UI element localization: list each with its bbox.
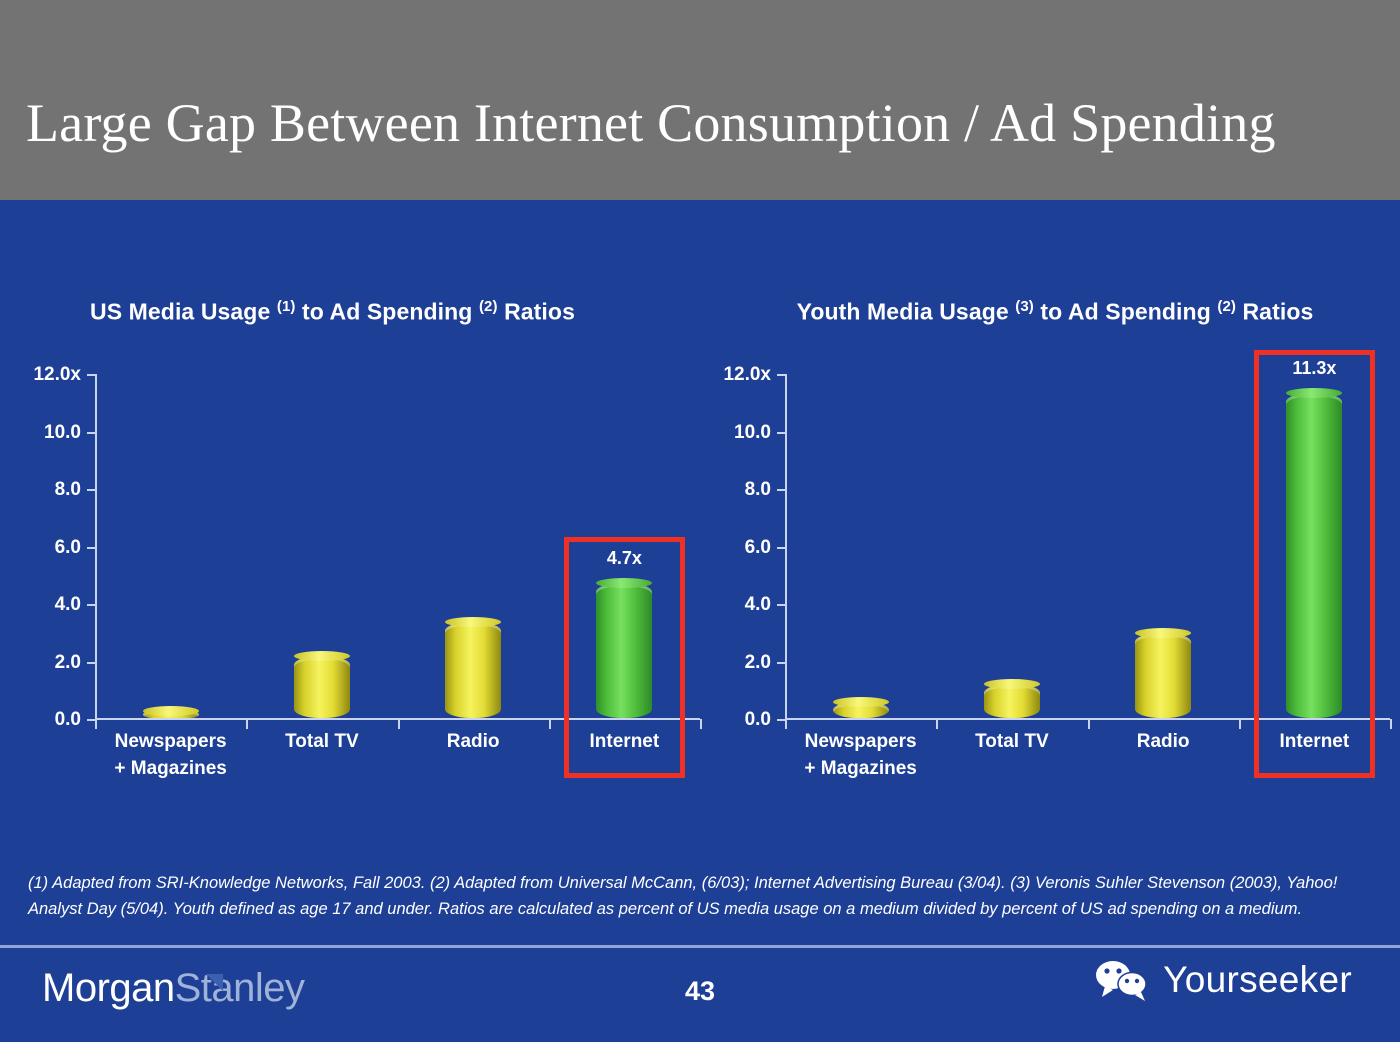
x-axis-category-label: Total TV [246, 728, 397, 755]
y-axis-tick [87, 432, 97, 434]
category-label-line1: Total TV [246, 728, 397, 755]
plot-area-right: 11.3x 0.02.04.06.08.010.012.0x [785, 375, 1390, 720]
category-label-line2: + Magazines [95, 755, 246, 782]
x-axis-category-label: Newspapers+ Magazines [95, 728, 246, 782]
y-axis-label: 12.0x [33, 364, 81, 386]
category-label-line1: Radio [1088, 728, 1239, 755]
bar-internet[interactable]: 4.7x [596, 583, 652, 718]
bar-slot [398, 375, 549, 718]
y-axis-tick [87, 489, 97, 491]
bar-value-label: 4.7x [607, 548, 642, 569]
bar-total-tv[interactable] [984, 684, 1040, 719]
bar-cap [833, 697, 889, 707]
y-axis-label: 10.0 [44, 422, 81, 444]
y-axis-label: 12.0x [723, 364, 771, 386]
x-axis-tick [1390, 719, 1392, 729]
x-axis-category-label: Internet [549, 728, 700, 755]
x-axis-category-label: Radio [1088, 728, 1239, 755]
y-axis-label: 2.0 [55, 652, 81, 674]
category-label-line1: Internet [1239, 728, 1390, 755]
chart-panel-us-media-usage: US Media Usage (1) to Ad Spending (2) Ra… [20, 200, 710, 800]
chart-title-right-text-a: Youth Media Usage [797, 299, 1016, 325]
category-label-line1: Total TV [936, 728, 1087, 755]
chart-title-left-text-b: to Ad Spending [295, 299, 478, 325]
y-axis-tick [87, 662, 97, 664]
chart-title-right-footnote-3: (3) [1015, 298, 1034, 315]
bars-container-left: 4.7x [95, 375, 700, 718]
y-axis-label: 4.0 [55, 594, 81, 616]
category-label-line1: Newspapers [95, 728, 246, 755]
y-axis-tick [777, 547, 787, 549]
bar-radio[interactable] [445, 622, 501, 718]
x-axis-category-label: Internet [1239, 728, 1390, 755]
y-axis-tick [87, 604, 97, 606]
bar-cap [1135, 628, 1191, 638]
bar-total-tv[interactable] [294, 656, 350, 718]
x-axis-category-label: Radio [398, 728, 549, 755]
slide-header: Large Gap Between Internet Consumption /… [0, 0, 1400, 200]
brand-label: Yourseeker [1163, 959, 1352, 1001]
bar-cap [445, 617, 501, 627]
y-axis-label: 6.0 [745, 537, 771, 559]
category-label-line1: Internet [549, 728, 700, 755]
y-axis-label: 6.0 [55, 537, 81, 559]
plot-area-left: 4.7x 0.02.04.06.08.010.012.0x [95, 375, 700, 720]
y-axis-tick [87, 547, 97, 549]
chart-title-left: US Media Usage (1) to Ad Spending (2) Ra… [20, 290, 710, 329]
x-axis-tick [700, 719, 702, 729]
y-axis-tick [777, 489, 787, 491]
y-axis-label: 8.0 [745, 479, 771, 501]
x-axis-category-label: Newspapers+ Magazines [785, 728, 936, 782]
y-axis-label: 2.0 [745, 652, 771, 674]
bar-radio[interactable] [1135, 633, 1191, 718]
x-axis-category-label: Total TV [936, 728, 1087, 755]
bar-slot [1088, 375, 1239, 718]
slide-body: US Media Usage (1) to Ad Spending (2) Ra… [0, 200, 1400, 945]
bar-slot: 4.7x [549, 375, 700, 718]
bar-cap [143, 706, 199, 716]
bar-cap [294, 651, 350, 661]
chart-panel-youth-media-usage: Youth Media Usage (3) to Ad Spending (2)… [710, 200, 1400, 800]
y-axis-tick [87, 374, 97, 376]
y-axis-tick [777, 374, 787, 376]
category-label-line1: Newspapers [785, 728, 936, 755]
brand-badge: Yourseeker [1093, 958, 1352, 1002]
chart-title-right: Youth Media Usage (3) to Ad Spending (2)… [710, 290, 1400, 329]
footnotes: (1) Adapted from SRI-Knowledge Networks,… [28, 870, 1373, 922]
bar-slot [936, 375, 1087, 718]
y-axis-tick [777, 432, 787, 434]
wechat-icon [1093, 958, 1151, 1002]
bar-newspapers[interactable] [833, 702, 889, 718]
bar-value-label: 11.3x [1292, 358, 1336, 379]
slide-footer: MorganStanley 43 Yourseeker [0, 948, 1400, 1042]
bar-cap [984, 679, 1040, 689]
y-axis-label: 10.0 [734, 422, 771, 444]
chart-title-left-footnote-1: (1) [277, 298, 296, 315]
category-label-line2: + Magazines [785, 755, 936, 782]
page-title: Large Gap Between Internet Consumption /… [26, 92, 1276, 154]
chart-title-right-text-c: Ratios [1236, 299, 1313, 325]
bar-slot [246, 375, 397, 718]
chart-title-left-text-a: US Media Usage [90, 299, 277, 325]
bar-newspapers[interactable] [143, 711, 199, 718]
bar-slot [785, 375, 936, 718]
y-axis-label: 8.0 [55, 479, 81, 501]
chart-title-left-footnote-2: (2) [479, 298, 498, 315]
bar-internet[interactable]: 11.3x [1286, 393, 1342, 718]
chart-title-right-text-b: to Ad Spending [1034, 299, 1217, 325]
chart-title-right-footnote-2: (2) [1217, 298, 1236, 315]
y-axis-tick [777, 662, 787, 664]
bar-cap [596, 578, 652, 588]
bar-cap [1286, 388, 1342, 398]
chart-title-left-text-c: Ratios [498, 299, 575, 325]
y-axis-label: 4.0 [745, 594, 771, 616]
category-label-line1: Radio [398, 728, 549, 755]
y-axis-label: 0.0 [745, 709, 771, 731]
bar-slot [95, 375, 246, 718]
y-axis-tick [777, 604, 787, 606]
bars-container-right: 11.3x [785, 375, 1390, 718]
bar-slot: 11.3x [1239, 375, 1390, 718]
y-axis-label: 0.0 [55, 709, 81, 731]
